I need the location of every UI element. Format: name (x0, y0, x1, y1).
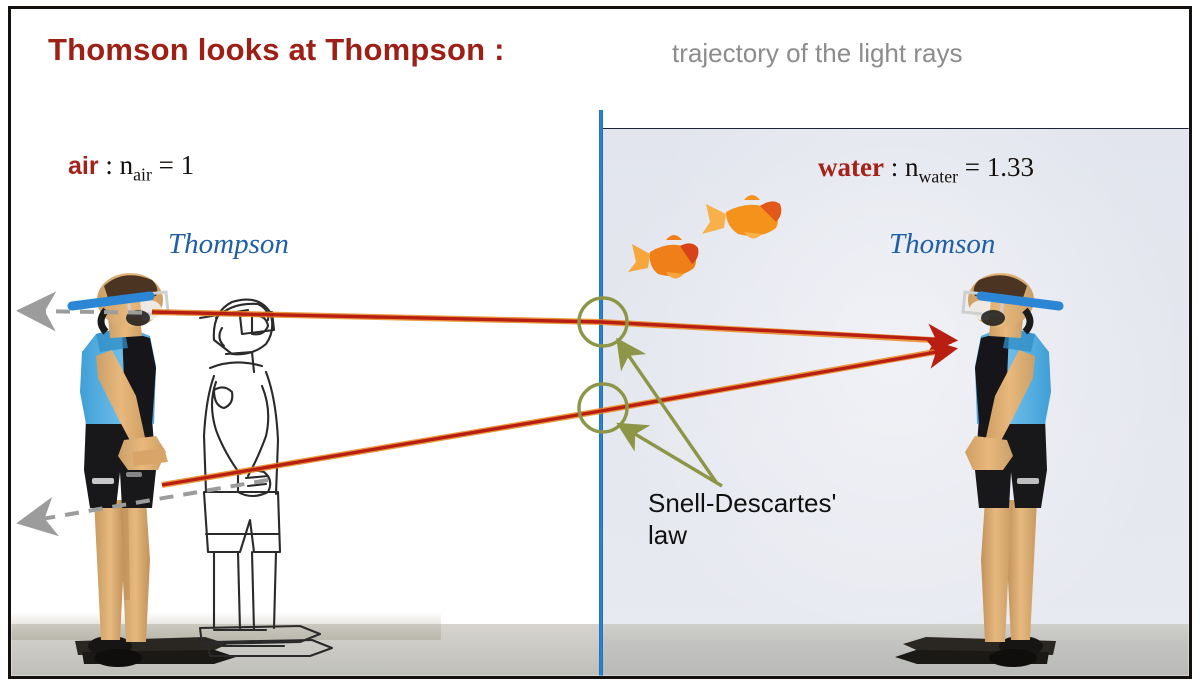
air-symbol: n (120, 150, 134, 180)
water-separator: : (884, 152, 905, 182)
snell-line-1: Snell-Descartes' (648, 488, 836, 520)
air-index-value: 1 (181, 150, 195, 180)
page-subtitle: trajectory of the light rays (672, 38, 962, 69)
air-separator: : (99, 150, 120, 180)
light-ray-upper[interactable] (152, 312, 952, 341)
snell-descartes-refraction-figure: Thomson looks at Thompson : trajectory o… (0, 0, 1200, 685)
snell-line-2: law (648, 520, 836, 552)
callout-arrow-lower[interactable] (625, 428, 722, 486)
water-subscript: water (918, 166, 958, 186)
callout-arrow-upper[interactable] (622, 346, 716, 482)
water-medium-name: water (818, 152, 884, 182)
label-thomson: Thomson (889, 228, 995, 261)
air-subscript: air (133, 164, 152, 184)
page-title: Thomson looks at Thompson : (48, 32, 505, 68)
light-ray-lower[interactable] (162, 349, 952, 485)
air-index-label: air : nair = 1 (68, 150, 194, 185)
water-index-value: 1.33 (987, 152, 1034, 182)
water-equals: = (958, 152, 987, 182)
snell-descartes-law-annotation: Snell-Descartes' law (648, 488, 836, 551)
air-medium-name: air (68, 152, 99, 180)
ray-diagram-layer (0, 0, 1200, 685)
air-equals: = (152, 150, 181, 180)
water-index-label: water : nwater = 1.33 (818, 152, 1034, 187)
virtual-ray-lower[interactable] (30, 480, 268, 521)
label-thompson: Thompson (168, 228, 289, 261)
water-symbol: n (905, 152, 919, 182)
